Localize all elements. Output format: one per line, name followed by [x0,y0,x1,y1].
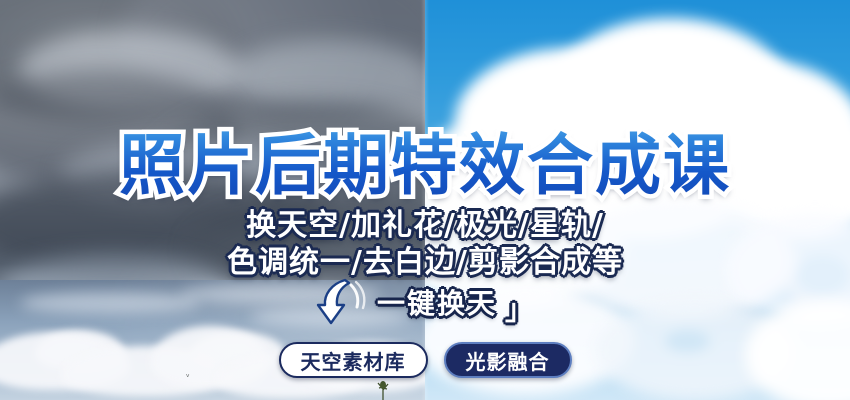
badge-sky-library[interactable]: 天空素材库 [279,342,428,378]
banner-content: 照片后期特效合成课 照片后期特效合成课 换天空/加礼花/极光/星轨/ 色调统一/… [0,0,850,400]
cta-label: 一键换天 [377,282,497,322]
promo-banner: ᵛ 照片后期特效合成课 照片后期特效合成课 换天空/加礼花/极光/星轨/ 色调统… [0,0,850,400]
badge-row: 天空素材库 光影融合 [0,341,850,379]
curved-down-arrow-icon [315,277,367,327]
page-title: 照片后期特效合成课 [0,112,850,208]
cta-bracket: 」 [505,288,535,328]
subtitle-line-2: 色调统一/去白边/剪影合成等 [0,237,850,281]
badge-light-blend[interactable]: 光影融合 [444,342,572,378]
cta-row: 一键换天 」 [0,278,850,326]
